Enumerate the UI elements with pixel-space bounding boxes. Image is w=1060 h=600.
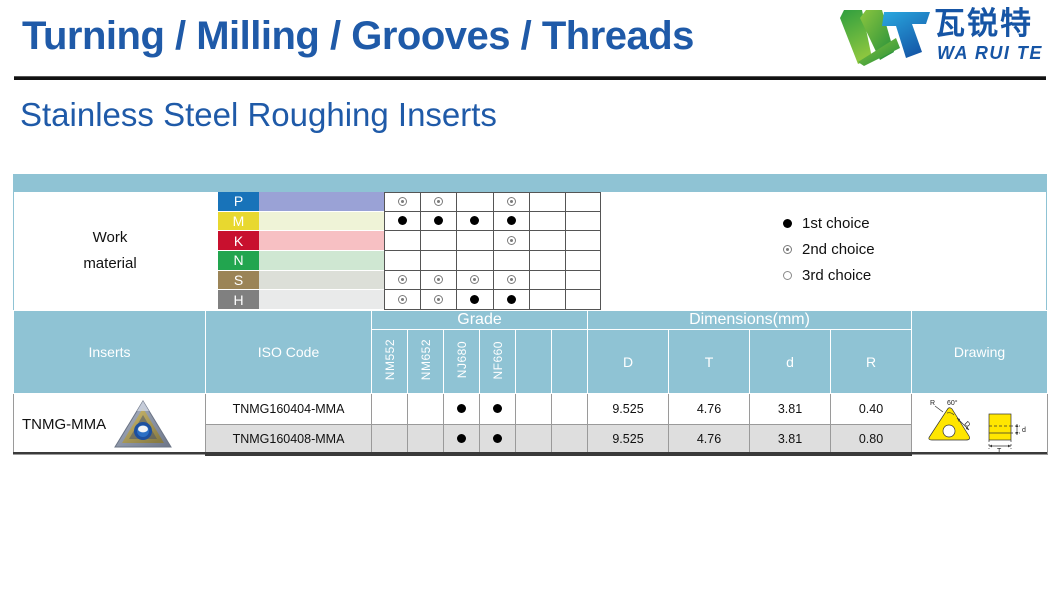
page-header: Turning / Milling / Grooves / Threads 瓦锐… bbox=[0, 0, 1060, 78]
work-material-cell bbox=[420, 251, 456, 271]
work-material-group-S: S bbox=[218, 271, 259, 291]
work-material-color-bar bbox=[259, 212, 384, 232]
grade-label: NF660 bbox=[491, 341, 505, 380]
cell-grade-empty-4 bbox=[516, 394, 552, 425]
cell-iso-code: TNMG160408-MMA bbox=[206, 424, 372, 455]
col-header-grade-NM552: NM552 bbox=[372, 330, 408, 394]
logo-chinese-text: 瓦锐特 bbox=[934, 7, 1033, 41]
table-top-bar bbox=[13, 174, 1047, 192]
cell-dim-R: 0.40 bbox=[831, 394, 912, 425]
work-material-cell bbox=[420, 231, 456, 251]
insert-photo bbox=[112, 398, 174, 450]
work-material-group-M: M bbox=[218, 212, 259, 232]
work-material-label: Work material bbox=[14, 192, 206, 310]
legend-label: 3rd choice bbox=[802, 267, 871, 284]
cell-grade-empty-5 bbox=[552, 394, 588, 425]
legend-item: 2nd choice bbox=[776, 236, 1016, 262]
col-header-grade-empty-4 bbox=[516, 330, 552, 394]
col-header-iso-code: ISO Code bbox=[206, 311, 372, 394]
mark-2nd-choice-icon bbox=[776, 245, 798, 254]
work-material-label-line2: material bbox=[83, 251, 136, 277]
mark-1st-choice-icon bbox=[434, 216, 443, 225]
col-header-dim-R: R bbox=[831, 330, 912, 394]
col-header-dim-D: D bbox=[588, 330, 669, 394]
work-material-color-bar bbox=[259, 290, 384, 310]
mark-1st-choice-icon bbox=[493, 404, 502, 413]
mark-1st-choice-icon bbox=[398, 216, 407, 225]
work-material-cell bbox=[420, 271, 456, 291]
work-material-cell bbox=[529, 212, 565, 232]
insert-family-cell: TNMG-MMA bbox=[14, 394, 206, 455]
cell-grade-NM652 bbox=[408, 394, 444, 425]
warui-te-logo-mark bbox=[838, 8, 934, 66]
mark-1st-choice-icon bbox=[493, 434, 502, 443]
work-material-cell bbox=[420, 290, 456, 310]
grade-label: NM652 bbox=[419, 339, 433, 380]
work-material-cell bbox=[420, 212, 456, 232]
legend-label: 1st choice bbox=[802, 215, 870, 232]
header-title: Turning / Milling / Grooves / Threads bbox=[22, 14, 694, 59]
work-material-cell bbox=[565, 251, 601, 271]
work-material-cell bbox=[529, 271, 565, 291]
mark-1st-choice-icon bbox=[470, 295, 479, 304]
work-material-group-P: P bbox=[218, 192, 259, 212]
company-logo: 瓦锐特 WA RUI TE bbox=[838, 6, 1050, 72]
cell-grade-NM552 bbox=[372, 394, 408, 425]
work-material-cell bbox=[384, 271, 420, 291]
drawing-label-d-small: d bbox=[1022, 427, 1026, 434]
work-material-cell bbox=[456, 231, 492, 251]
work-material-cell bbox=[384, 251, 420, 271]
work-material-row: N bbox=[218, 251, 796, 271]
mark-2nd-choice-icon bbox=[507, 197, 516, 206]
col-group-grade: Grade bbox=[372, 311, 588, 330]
grade-label: NJ680 bbox=[455, 341, 469, 378]
col-header-grade-NF660: NF660 bbox=[480, 330, 516, 394]
work-material-row: P bbox=[218, 192, 796, 212]
mark-2nd-choice-icon bbox=[507, 236, 516, 245]
insert-spec-table: Inserts ISO Code Grade Dimensions(mm) Dr… bbox=[13, 310, 1048, 456]
logo-latin-text: WA RUI TE bbox=[937, 43, 1043, 64]
cell-dim-D: 9.525 bbox=[588, 394, 669, 425]
work-material-grade-cells bbox=[384, 192, 796, 212]
work-material-cell bbox=[456, 212, 492, 232]
work-material-grade-cells bbox=[384, 251, 796, 271]
cell-dim-D: 9.525 bbox=[588, 424, 669, 455]
work-material-color-bar bbox=[259, 231, 384, 251]
work-material-cell bbox=[529, 192, 565, 212]
cell-grade-empty-4 bbox=[516, 424, 552, 455]
work-material-cell bbox=[384, 212, 420, 232]
legend-item: 3rd choice bbox=[776, 262, 1016, 288]
legend-label: 2nd choice bbox=[802, 241, 875, 258]
cell-grade-empty-5 bbox=[552, 424, 588, 455]
work-material-cell bbox=[384, 231, 420, 251]
mark-3rd-choice-icon bbox=[776, 271, 798, 280]
mark-2nd-choice-icon bbox=[398, 197, 407, 206]
work-material-cell bbox=[493, 251, 529, 271]
tnmg-insert-photo bbox=[112, 398, 174, 450]
drawing-label-r: R bbox=[930, 400, 935, 407]
mark-1st-choice-icon bbox=[776, 219, 798, 228]
page-title: Stainless Steel Roughing Inserts bbox=[20, 96, 497, 134]
work-material-cell bbox=[565, 290, 601, 310]
cell-grade-NJ680 bbox=[444, 394, 480, 425]
col-group-dimensions: Dimensions(mm) bbox=[588, 311, 912, 330]
col-header-inserts: Inserts bbox=[14, 311, 206, 394]
work-material-row: H bbox=[218, 290, 796, 310]
cell-grade-NM552 bbox=[372, 424, 408, 455]
work-material-section: Work material PMKNSH 1st choice 2nd choi… bbox=[13, 192, 1047, 310]
cell-dim-T: 4.76 bbox=[669, 424, 750, 455]
work-material-cell bbox=[493, 271, 529, 291]
cell-dim-T: 4.76 bbox=[669, 394, 750, 425]
work-material-cell bbox=[493, 192, 529, 212]
choice-legend: 1st choice 2nd choice 3rd choice bbox=[776, 210, 1016, 288]
cell-grade-NF660 bbox=[480, 394, 516, 425]
work-material-color-bar bbox=[259, 192, 384, 212]
work-material-cell bbox=[493, 212, 529, 232]
mark-1st-choice-icon bbox=[457, 434, 466, 443]
work-material-cell bbox=[384, 192, 420, 212]
header-divider bbox=[14, 76, 1046, 80]
mark-2nd-choice-icon bbox=[434, 295, 443, 304]
mark-2nd-choice-icon bbox=[398, 295, 407, 304]
work-material-cell bbox=[529, 290, 565, 310]
col-header-dim-d: d bbox=[750, 330, 831, 394]
legend-item: 1st choice bbox=[776, 210, 1016, 236]
work-material-cell bbox=[456, 192, 492, 212]
work-material-cell bbox=[565, 192, 601, 212]
work-material-group-K: K bbox=[218, 231, 259, 251]
work-material-group-N: N bbox=[218, 251, 259, 271]
work-material-row: S bbox=[218, 271, 796, 291]
cell-dim-d: 3.81 bbox=[750, 424, 831, 455]
cell-dim-d: 3.81 bbox=[750, 394, 831, 425]
col-header-grade-empty-5 bbox=[552, 330, 588, 394]
work-material-cell bbox=[493, 290, 529, 310]
work-material-group-H: H bbox=[218, 290, 259, 310]
cell-dim-R: 0.80 bbox=[831, 424, 912, 455]
cell-iso-code: TNMG160404-MMA bbox=[206, 394, 372, 425]
mark-2nd-choice-icon bbox=[470, 275, 479, 284]
mark-1st-choice-icon bbox=[507, 216, 516, 225]
insert-dimension-drawing: R 60° D d T bbox=[917, 396, 1043, 452]
col-header-dim-T: T bbox=[669, 330, 750, 394]
work-material-grade-cells bbox=[384, 231, 796, 251]
mark-1st-choice-icon bbox=[470, 216, 479, 225]
work-material-grid: PMKNSH bbox=[218, 192, 796, 310]
work-material-cell bbox=[384, 290, 420, 310]
mark-2nd-choice-icon bbox=[434, 197, 443, 206]
table-row: TNMG-MMA TNMG160404-MMA9.5254.763.810.40 bbox=[14, 394, 1048, 425]
work-material-color-bar bbox=[259, 271, 384, 291]
drawing-label-angle: 60° bbox=[947, 399, 958, 407]
work-material-row: M bbox=[218, 212, 796, 232]
grade-label: NM552 bbox=[383, 339, 397, 380]
work-material-cell bbox=[456, 290, 492, 310]
mark-2nd-choice-icon bbox=[434, 275, 443, 284]
table-bottom-divider bbox=[13, 452, 1047, 454]
mark-1st-choice-icon bbox=[507, 295, 516, 304]
work-material-row: K bbox=[218, 231, 796, 251]
col-header-drawing: Drawing bbox=[912, 311, 1048, 394]
col-header-grade-NM652: NM652 bbox=[408, 330, 444, 394]
mark-1st-choice-icon bbox=[457, 404, 466, 413]
table-header-row-groups: Inserts ISO Code Grade Dimensions(mm) Dr… bbox=[14, 311, 1048, 330]
cell-grade-NF660 bbox=[480, 424, 516, 455]
drawing-cell: R 60° D d T bbox=[912, 394, 1048, 455]
work-material-cell bbox=[529, 231, 565, 251]
work-material-cell bbox=[456, 271, 492, 291]
work-material-cell bbox=[565, 212, 601, 232]
work-material-cell bbox=[456, 251, 492, 271]
insert-family-label: TNMG-MMA bbox=[22, 416, 106, 433]
cell-grade-NM652 bbox=[408, 424, 444, 455]
work-material-grade-cells bbox=[384, 271, 796, 291]
work-material-grade-cells bbox=[384, 212, 796, 232]
col-header-grade-NJ680: NJ680 bbox=[444, 330, 480, 394]
work-material-cell bbox=[565, 271, 601, 291]
mark-2nd-choice-icon bbox=[398, 275, 407, 284]
work-material-grade-cells bbox=[384, 290, 796, 310]
work-material-cell bbox=[420, 192, 456, 212]
work-material-cell bbox=[565, 231, 601, 251]
work-material-color-bar bbox=[259, 251, 384, 271]
work-material-cell bbox=[493, 231, 529, 251]
mark-2nd-choice-icon bbox=[507, 275, 516, 284]
cell-grade-NJ680 bbox=[444, 424, 480, 455]
work-material-cell bbox=[529, 251, 565, 271]
work-material-label-line1: Work bbox=[93, 225, 128, 251]
